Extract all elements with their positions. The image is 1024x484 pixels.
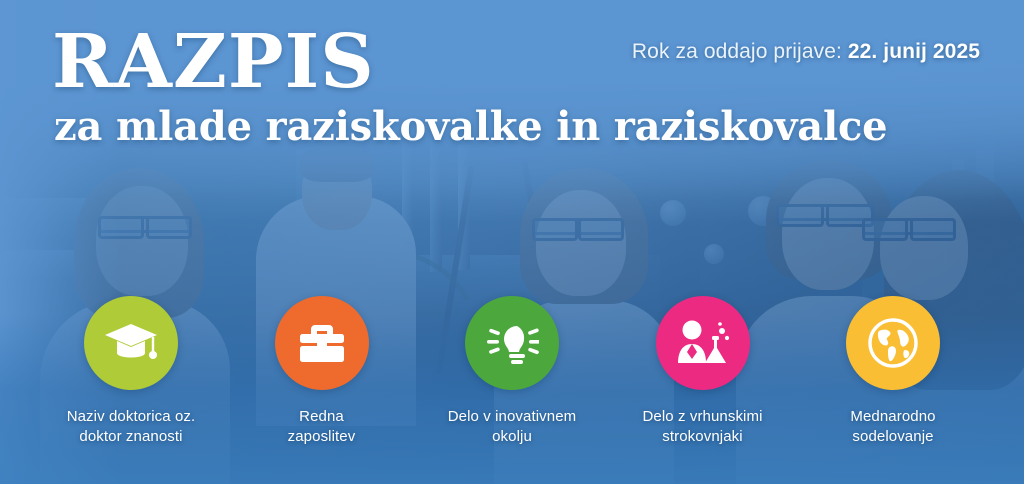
feature-item-employment[interactable]: Redna zaposlitev [237,296,407,447]
deadline-text: Rok za oddajo prijave: 22. junij 2025 [632,40,980,64]
feature-item-doctorate[interactable]: Naziv doktorica oz. doktor znanosti [46,296,216,447]
razpis-banner: RAZPIS za mlade raziskovalke in raziskov… [0,0,1024,484]
lightbulb-icon [485,318,539,368]
feature-circle[interactable] [275,296,369,390]
feature-label: Delo v inovativnem okolju [448,407,577,447]
feature-label-line1: Mednarodno [850,407,935,427]
page-subtitle: za mlade raziskovalke in raziskovalce [54,106,887,148]
feature-label-line1: Delo z vrhunskimi [642,407,762,427]
feature-label: Redna zaposlitev [288,407,356,447]
feature-item-innovation[interactable]: Delo v inovativnem okolju [427,296,597,447]
feature-item-international[interactable]: Mednarodno sodelovanje [808,296,978,447]
feature-label: Mednarodno sodelovanje [850,407,935,447]
briefcase-icon [297,321,347,365]
feature-label-line2: sodelovanje [850,427,935,447]
globe-icon [867,317,919,369]
feature-label: Naziv doktorica oz. doktor znanosti [67,407,196,447]
scientist-flask-icon [674,319,732,367]
deadline-date: 22. junij 2025 [848,40,980,63]
graduation-cap-icon [103,320,159,366]
feature-circle[interactable] [846,296,940,390]
feature-label-line2: doktor znanosti [67,427,196,447]
feature-label-line2: zaposlitev [288,427,356,447]
feature-list: Naziv doktorica oz. doktor znanosti Redn… [0,296,1024,447]
feature-label-line2: strokovnjaki [642,427,762,447]
feature-label-line2: okolju [448,427,577,447]
feature-label: Delo z vrhunskimi strokovnjaki [642,407,762,447]
feature-item-experts[interactable]: Delo z vrhunskimi strokovnjaki [618,296,788,447]
feature-label-line1: Naziv doktorica oz. [67,407,196,427]
deadline-label: Rok za oddajo prijave: [632,40,842,63]
feature-label-line1: Delo v inovativnem [448,407,577,427]
feature-circle[interactable] [465,296,559,390]
feature-circle[interactable] [84,296,178,390]
feature-circle[interactable] [656,296,750,390]
feature-label-line1: Redna [288,407,356,427]
